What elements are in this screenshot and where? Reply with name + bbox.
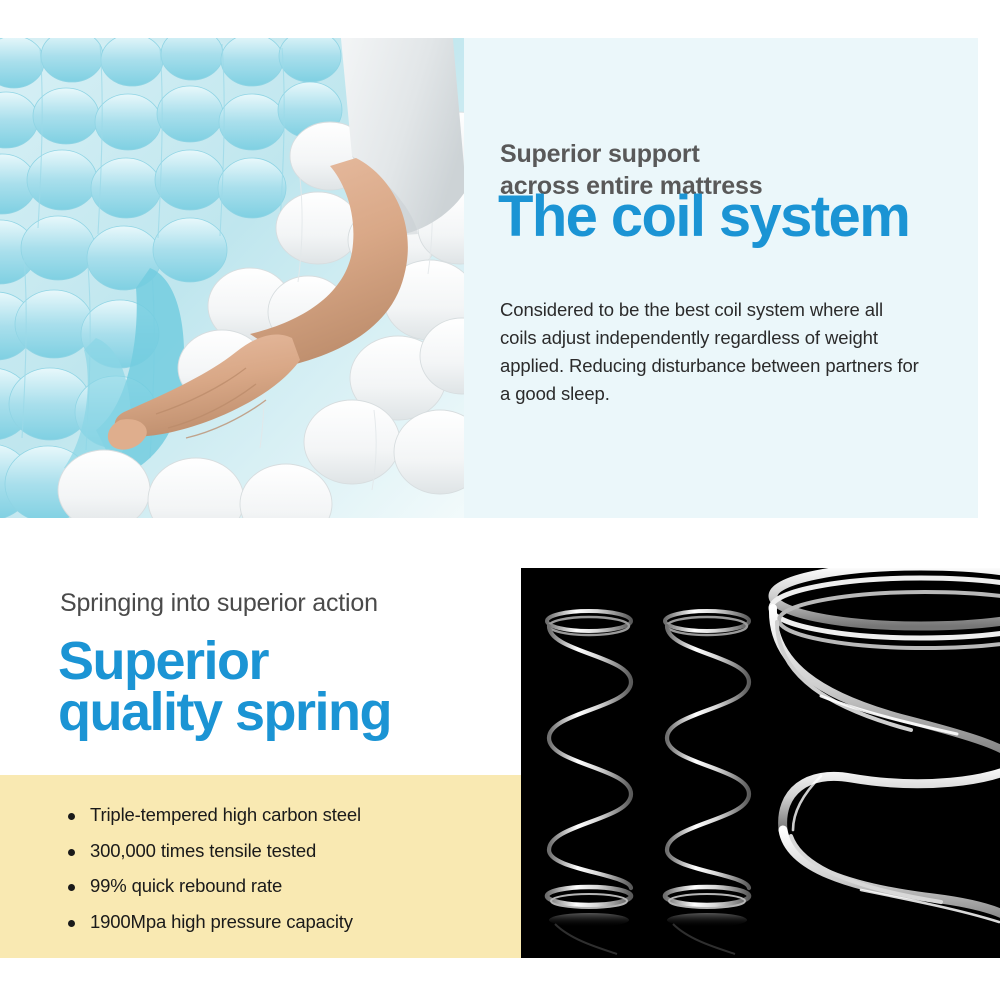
bullet-dot-icon (68, 849, 75, 856)
list-item: 99% quick rebound rate (60, 877, 490, 896)
list-item-label: 1900Mpa high pressure capacity (90, 911, 353, 932)
spring-feature-list: Triple-tempered high carbon steel 300,00… (60, 806, 490, 948)
coil-mattress-photo (0, 38, 464, 518)
spring-eyebrow: Springing into superior action (60, 588, 500, 618)
spring-headline: Superior quality spring (58, 636, 508, 739)
list-item: Triple-tempered high carbon steel (60, 806, 490, 825)
list-item-label: 99% quick rebound rate (90, 875, 282, 896)
coil-system-text-panel: Superior support across entire mattress … (464, 38, 978, 518)
bullet-dot-icon (68, 920, 75, 927)
product-feature-graphic: Superior support across entire mattress … (0, 0, 1000, 1000)
list-item-label: 300,000 times tensile tested (90, 840, 316, 861)
list-item-label: Triple-tempered high carbon steel (90, 804, 361, 825)
bullet-dot-icon (68, 884, 75, 891)
list-item: 300,000 times tensile tested (60, 842, 490, 861)
bullet-dot-icon (68, 813, 75, 820)
coil-system-description: Considered to be the best coil system wh… (500, 296, 920, 408)
list-item: 1900Mpa high pressure capacity (60, 913, 490, 932)
mattress-spring-photo (521, 568, 1000, 958)
coil-system-headline: The coil system (498, 188, 909, 246)
